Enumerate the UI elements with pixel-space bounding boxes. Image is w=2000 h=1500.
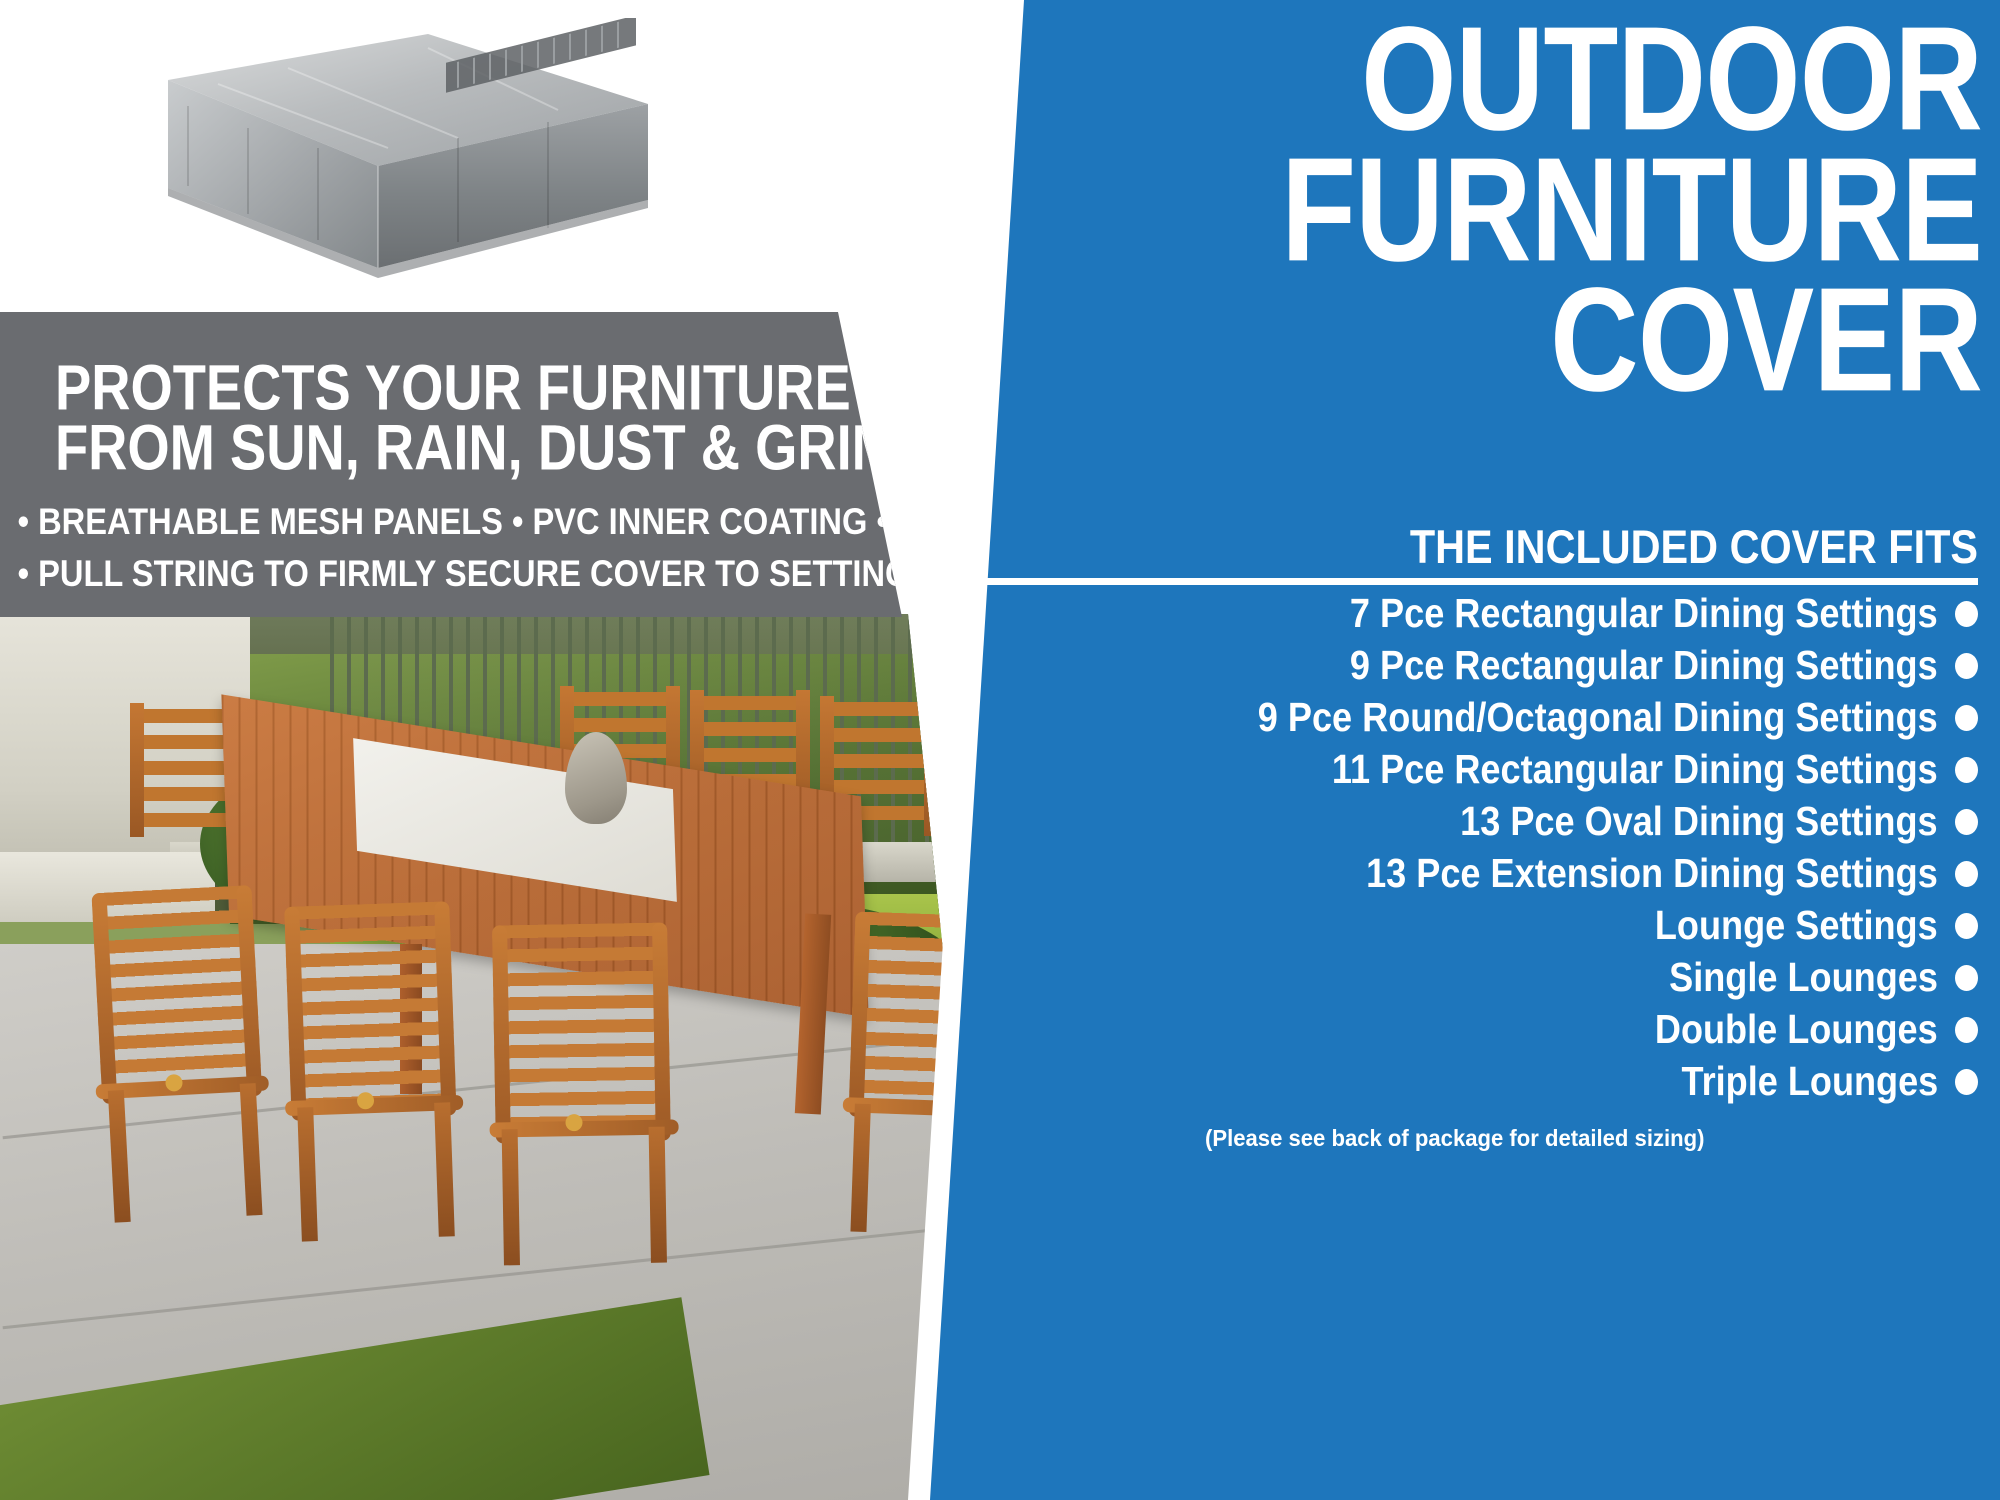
fits-label-2: 9 Pce Rectangular Dining Settings bbox=[1350, 646, 1938, 687]
cover-fits-list: 7 Pce Rectangular Dining Settings 9 Pce … bbox=[968, 595, 1978, 1101]
fits-label-4: 11 Pce Rectangular Dining Settings bbox=[1332, 750, 1938, 791]
list-item: 13 Pce Extension Dining Settings bbox=[968, 855, 1978, 893]
title-line-cover: COVER bbox=[1024, 268, 1982, 414]
lifestyle-photo bbox=[0, 614, 1000, 1500]
list-item: 9 Pce Rectangular Dining Settings bbox=[968, 647, 1978, 685]
chair-front-1 bbox=[91, 885, 268, 1223]
fits-label-10: Triple Lounges bbox=[1681, 1062, 1938, 1103]
package-artwork: PROTECTS YOUR FURNITURE FROM SUN, RAIN, … bbox=[0, 0, 2000, 1500]
fits-label-1: 7 Pce Rectangular Dining Settings bbox=[1350, 594, 1938, 635]
list-item: 7 Pce Rectangular Dining Settings bbox=[968, 595, 1978, 633]
product-photo bbox=[0, 0, 1010, 314]
chair-front-3 bbox=[492, 922, 673, 1265]
bullet-dot-icon bbox=[1955, 809, 1978, 835]
bullet-dot-icon bbox=[1955, 705, 1978, 731]
bullet-dot-icon bbox=[1955, 1069, 1978, 1095]
bullet-dot-icon bbox=[1955, 601, 1978, 627]
fits-label-6: 13 Pce Extension Dining Settings bbox=[1366, 854, 1938, 895]
bullet-dot-icon bbox=[1955, 653, 1978, 679]
benefits-heading: PROTECTS YOUR FURNITURE FROM SUN, RAIN, … bbox=[55, 358, 895, 478]
list-item: 9 Pce Round/Octagonal Dining Settings bbox=[968, 699, 1978, 737]
page-title: OUTDOOR FURNITURE COVER bbox=[952, 14, 1982, 406]
title-underline bbox=[968, 578, 1978, 585]
cover-fits-title: THE INCLUDED COVER FITS bbox=[1049, 523, 1978, 571]
list-item: Triple Lounges bbox=[968, 1063, 1978, 1101]
fits-label-3: 9 Pce Round/Octagonal Dining Settings bbox=[1258, 698, 1938, 739]
list-item: 13 Pce Oval Dining Settings bbox=[968, 803, 1978, 841]
list-item: 11 Pce Rectangular Dining Settings bbox=[968, 751, 1978, 789]
sizing-note: (Please see back of package for detailed… bbox=[988, 1125, 1958, 1152]
fits-label-7: Lounge Settings bbox=[1655, 906, 1938, 947]
feature-list: • BREATHABLE MESH PANELS • PVC INNER COA… bbox=[0, 505, 880, 609]
chair-front-2 bbox=[284, 901, 461, 1242]
bullet-dot-icon bbox=[1955, 861, 1978, 887]
feature-line-1: • BREATHABLE MESH PANELS • PVC INNER COA… bbox=[18, 503, 863, 540]
fits-label-5: 13 Pce Oval Dining Settings bbox=[1461, 802, 1938, 843]
bullet-dot-icon bbox=[1955, 965, 1978, 991]
fits-label-8: Single Lounges bbox=[1669, 958, 1938, 999]
list-item: Single Lounges bbox=[968, 959, 1978, 997]
benefits-panel: PROTECTS YOUR FURNITURE FROM SUN, RAIN, … bbox=[0, 312, 1010, 617]
bullet-dot-icon bbox=[1955, 1017, 1978, 1043]
list-item: Double Lounges bbox=[968, 1011, 1978, 1049]
bullet-dot-icon bbox=[1955, 757, 1978, 783]
list-item: Lounge Settings bbox=[968, 907, 1978, 945]
furniture-cover-image bbox=[128, 18, 658, 290]
cover-fits-section: THE INCLUDED COVER FITS 7 Pce Rectangula… bbox=[968, 524, 1978, 1152]
benefits-heading-line2: FROM SUN, RAIN, DUST & GRIME bbox=[55, 414, 870, 482]
fits-label-9: Double Lounges bbox=[1655, 1010, 1938, 1051]
feature-line-2: • PULL STRING TO FIRMLY SECURE COVER TO … bbox=[18, 555, 863, 592]
bullet-dot-icon bbox=[1955, 913, 1978, 939]
